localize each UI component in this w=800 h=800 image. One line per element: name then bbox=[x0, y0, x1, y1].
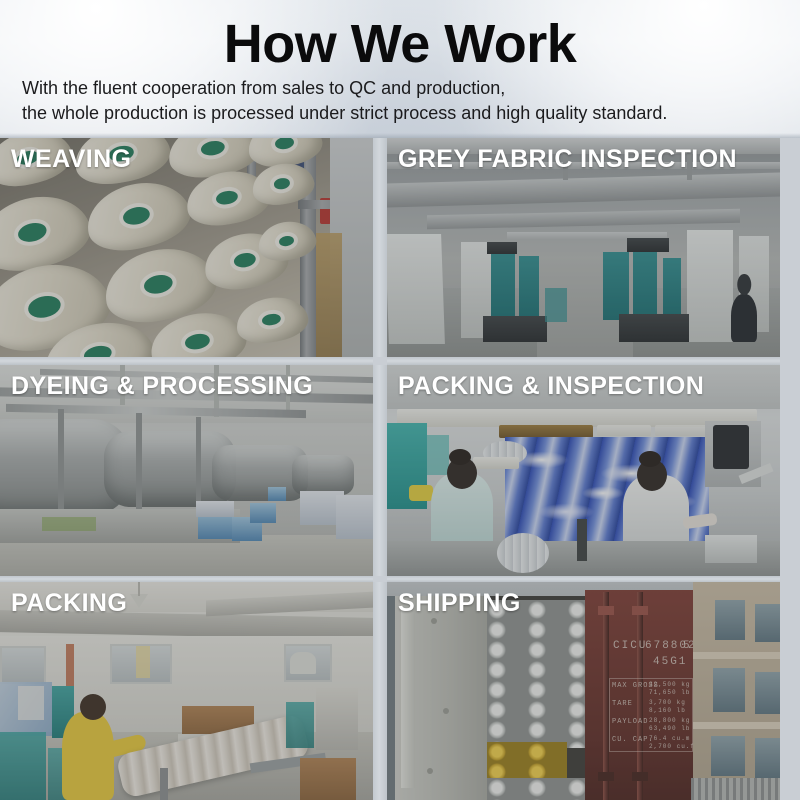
process-grid: WEAVING bbox=[0, 138, 800, 800]
shipping-label: SHIPPING bbox=[398, 588, 521, 618]
dyeing-processing-label: DYEING & PROCESSING bbox=[11, 371, 313, 401]
weaving-label: WEAVING bbox=[11, 144, 131, 174]
grid-gutter-vertical-row3 bbox=[373, 582, 387, 800]
grid-cell-packing-inspection[interactable]: PACKING & INSPECTION bbox=[387, 365, 780, 576]
subtitle-line-2: the whole production is processed under … bbox=[22, 101, 667, 126]
page-header: How We Work With the fluent cooperation … bbox=[0, 0, 800, 138]
grid-gutter-vertical-row1 bbox=[373, 138, 387, 357]
grid-cell-grey-fabric-inspection[interactable]: GREY FABRIC INSPECTION bbox=[387, 138, 780, 357]
grid-cell-dyeing-processing[interactable]: DYEING & PROCESSING bbox=[0, 365, 373, 576]
grey-fabric-inspection-label: GREY FABRIC INSPECTION bbox=[398, 144, 737, 174]
grid-margin-right-row1 bbox=[780, 138, 800, 357]
grid-gutter-vertical-row2 bbox=[373, 365, 387, 576]
page-subtitle: With the fluent cooperation from sales t… bbox=[22, 76, 667, 126]
grid-gutter-horizontal-1-right bbox=[387, 357, 780, 365]
packing-label: PACKING bbox=[11, 588, 127, 618]
packing-inspection-label: PACKING & INSPECTION bbox=[398, 371, 704, 401]
subtitle-line-1: With the fluent cooperation from sales t… bbox=[22, 76, 667, 101]
grid-margin-right-row2 bbox=[780, 365, 800, 576]
grid-cell-packing[interactable]: PACKING bbox=[0, 582, 373, 800]
how-we-work-page: How We Work With the fluent cooperation … bbox=[0, 0, 800, 800]
grid-margin-right-gutter-1 bbox=[780, 357, 800, 365]
grid-gutter-horizontal-1-left bbox=[0, 357, 373, 365]
grid-cell-weaving[interactable]: WEAVING bbox=[0, 138, 373, 357]
grid-cell-shipping[interactable]: CICU 678802 5 45G1 MAX GROSS 32,500 kg 7… bbox=[387, 582, 780, 800]
grid-margin-right-row3 bbox=[780, 582, 800, 800]
grid-gutter-cross-1 bbox=[373, 357, 387, 365]
page-title: How We Work bbox=[0, 14, 800, 74]
